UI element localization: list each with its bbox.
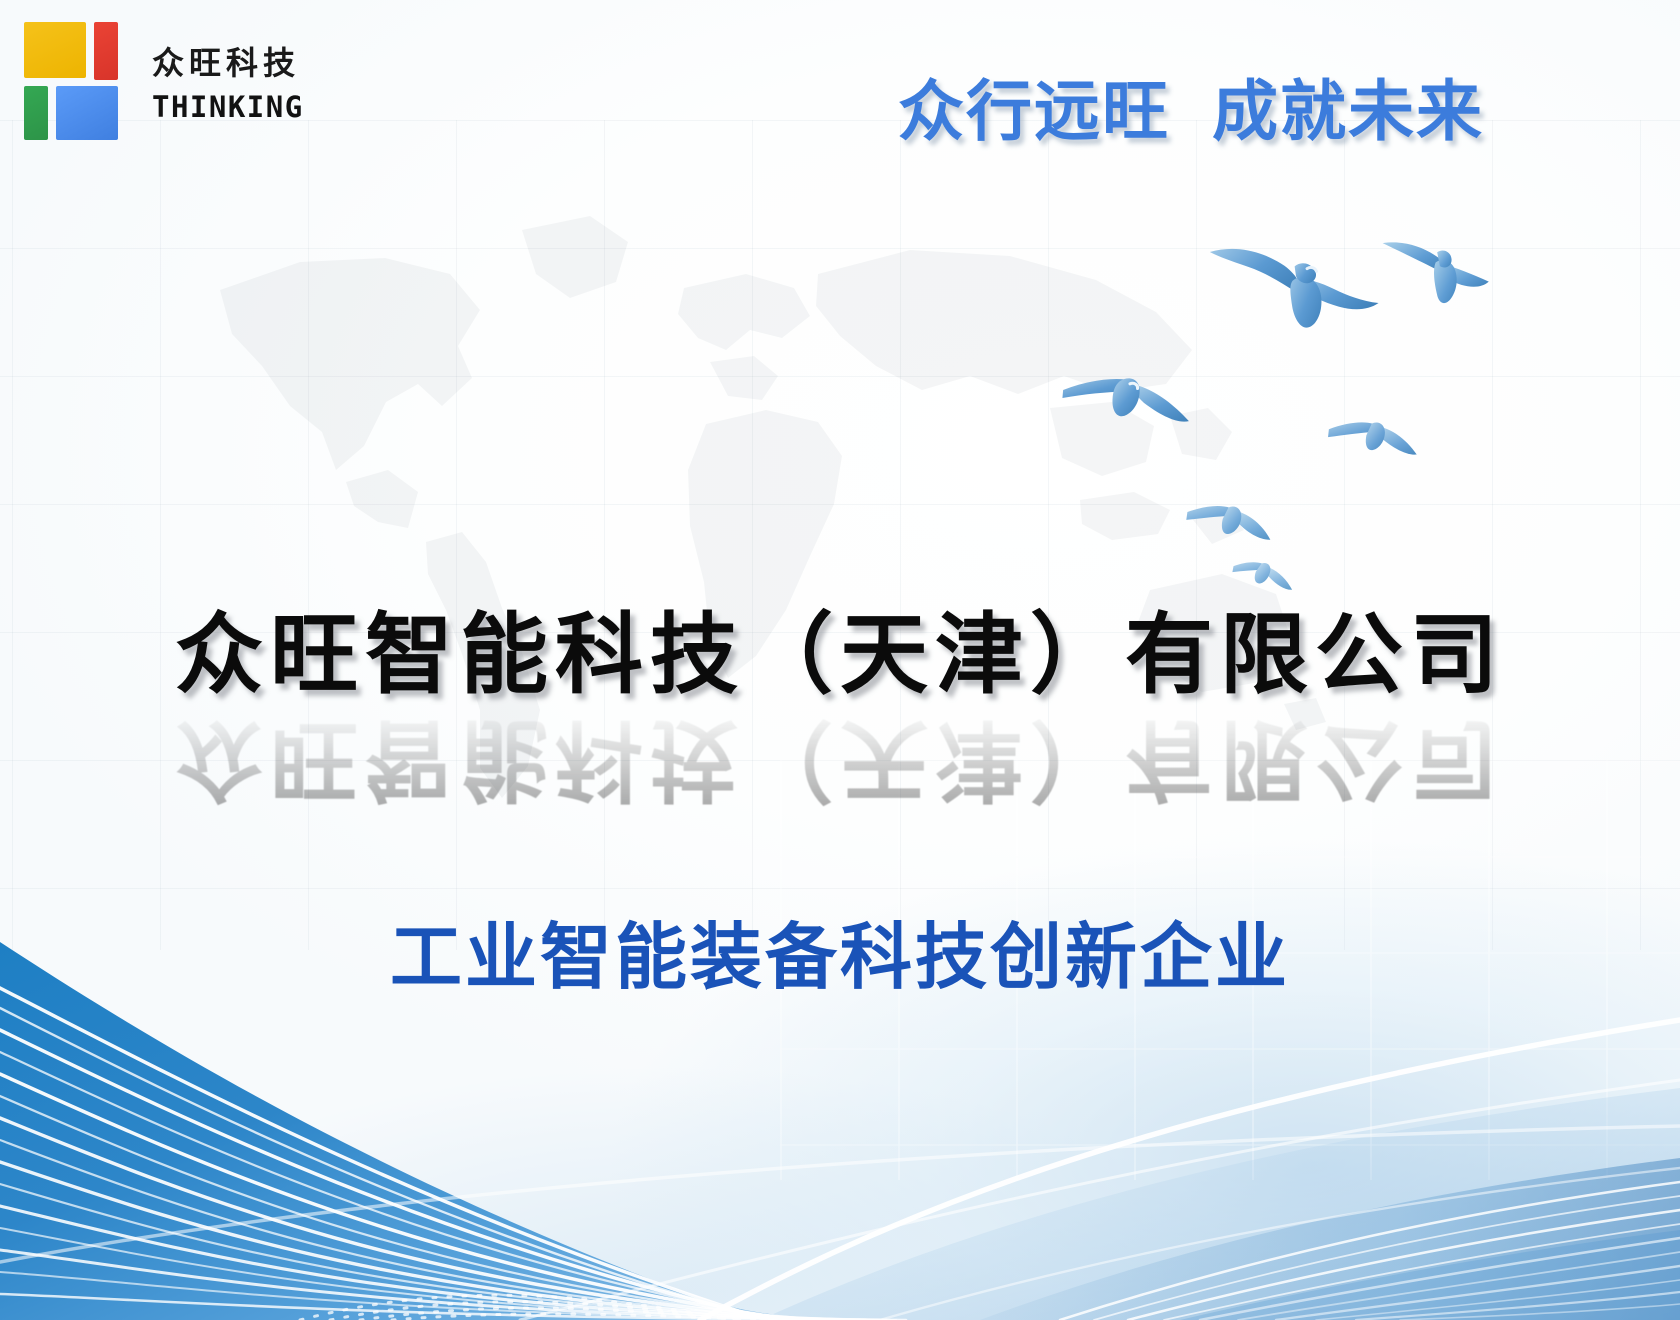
logo-company-cn: 众旺科技 — [152, 38, 304, 84]
green-tile-icon — [24, 86, 48, 140]
logo-company-en: THINKING — [152, 90, 304, 124]
yellow-tile-icon — [24, 22, 86, 78]
page-subtitle: 工业智能装备科技创新企业 — [0, 898, 1680, 1003]
presentation-slide: 众旺科技 THINKING 众行远旺成就未来 — [0, 0, 1680, 1320]
title-reflection-text: 众旺智能科技（天津）有限公司 — [0, 703, 1680, 821]
page-title: 众旺智能科技（天津）有限公司 — [0, 584, 1680, 711]
header-slogan: 众行远旺成就未来 — [898, 58, 1484, 154]
header-slogan-left: 众行远旺 — [898, 73, 1170, 150]
logo-mark-icon — [24, 22, 128, 140]
blue-tile-icon — [56, 86, 118, 140]
title-block: 众旺智能科技（天津）有限公司 众旺智能科技（天津）有限公司 — [0, 584, 1680, 821]
company-logo: 众旺科技 THINKING — [24, 22, 304, 140]
title-reflection: 众旺智能科技（天津）有限公司 — [0, 703, 1680, 821]
red-tile-icon — [94, 22, 118, 80]
logo-wordmark: 众旺科技 THINKING — [152, 38, 304, 124]
header-slogan-right: 成就未来 — [1212, 73, 1484, 150]
